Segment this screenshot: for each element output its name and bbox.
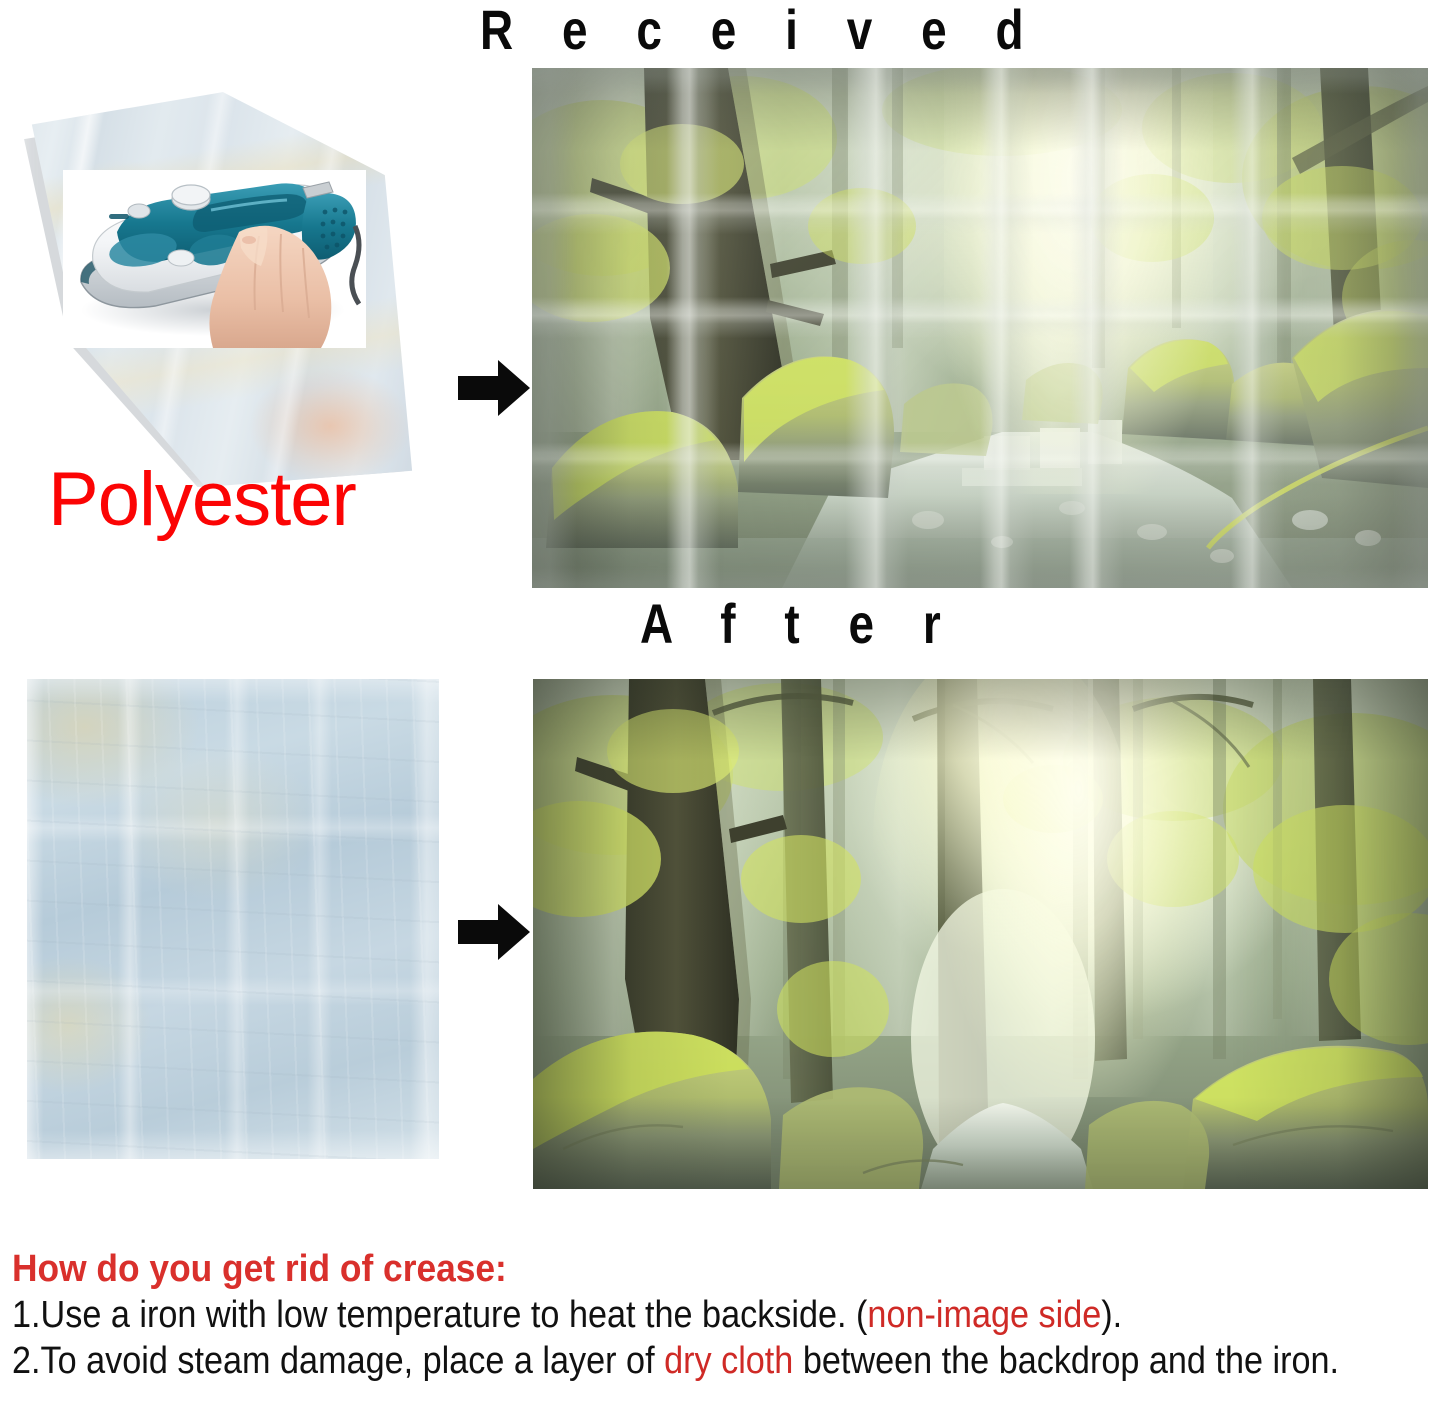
received-heading: R e c e i v e d (480, 2, 1042, 58)
line2-post: between the backdrop and the iron. (793, 1340, 1339, 1382)
line2-highlight: dry cloth (664, 1340, 793, 1382)
instruction-line-2: 2.To avoid steam damage, place a layer o… (12, 1338, 1290, 1384)
line1-post: ). (1101, 1294, 1122, 1336)
after-heading: A f t e r (640, 596, 959, 652)
infographic-canvas: R e c e i v e d A f t e r Polyester (0, 0, 1436, 1402)
forest-artwork-creased (532, 68, 1428, 588)
line2-pre: 2.To avoid steam damage, place a layer o… (12, 1340, 664, 1382)
instructions-heading: How do you get rid of crease: (12, 1248, 1333, 1292)
forest-artwork-smooth (533, 679, 1428, 1189)
arrow-right-icon (456, 356, 532, 425)
received-backdrop-photo (532, 68, 1428, 588)
instruction-line-1: 1.Use a iron with low temperature to hea… (12, 1292, 1290, 1338)
care-instructions: How do you get rid of crease: 1.Use a ir… (12, 1248, 1432, 1384)
line1-highlight: non-image side (867, 1294, 1101, 1336)
arrow-right-icon (456, 900, 532, 969)
after-backdrop-photo (533, 679, 1428, 1189)
backside-wrinkle-texture (27, 679, 439, 1159)
polyester-label: Polyester (48, 462, 356, 538)
backdrop-backside-panel (27, 679, 439, 1159)
line1-pre: 1.Use a iron with low temperature to hea… (12, 1294, 867, 1336)
iron-demo-inset (63, 170, 366, 348)
